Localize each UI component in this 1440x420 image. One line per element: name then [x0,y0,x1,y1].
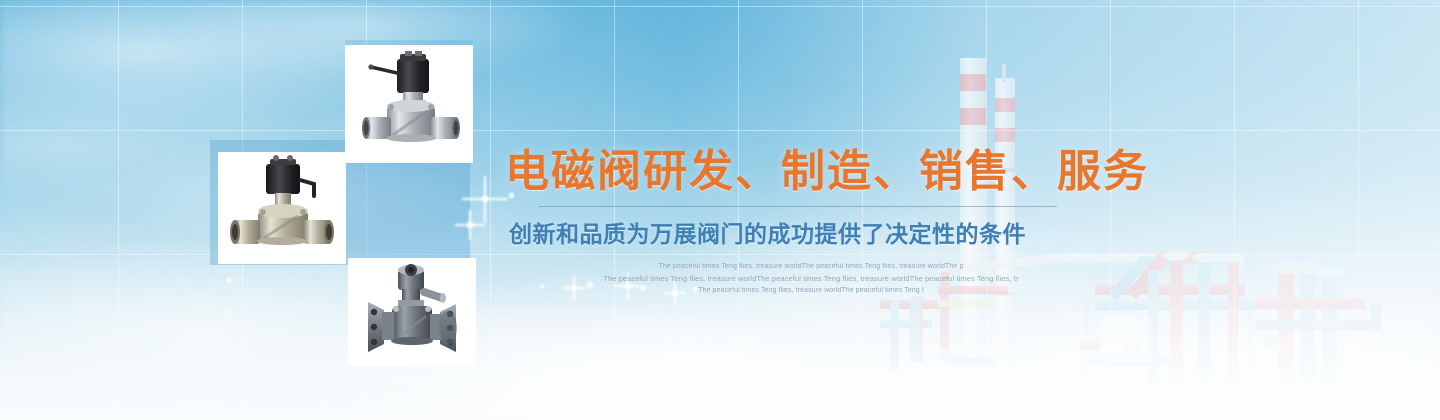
product-tile-1[interactable] [345,45,473,163]
banner-subheadline: 创新和品质为万展阀门的成功提供了决定性的条件 [509,215,1125,249]
hero-banner: 电磁阀研发、制造、销售、服务 创新和品质为万展阀门的成功提供了决定性的条件 Th… [0,0,1440,420]
headline-divider [539,206,1057,207]
bokeh-dot [226,309,232,315]
product-tile-3[interactable] [348,258,476,366]
brass-solenoid-valve-threaded-icon [218,152,346,264]
bokeh-dot [226,277,232,283]
paragraph-line-1: The peaceful times Teng flies, treasure … [531,261,1091,273]
banner-paragraph: The peaceful times Teng flies, treasure … [531,261,1091,296]
banner-headline: 电磁阀研发、制造、销售、服务 [505,148,1125,196]
flanged-solenoid-valve-icon [348,258,476,366]
paragraph-line-3: The peaceful times Teng flies, treasure … [531,285,1091,297]
banner-text-block: 电磁阀研发、制造、销售、服务 创新和品质为万展阀门的成功提供了决定性的条件 Th… [505,148,1125,297]
paragraph-line-2: The peaceful times Teng flies, treasure … [531,273,1091,285]
product-tile-2[interactable] [218,152,346,264]
stainless-steel-solenoid-valve-threaded-icon [345,45,473,163]
